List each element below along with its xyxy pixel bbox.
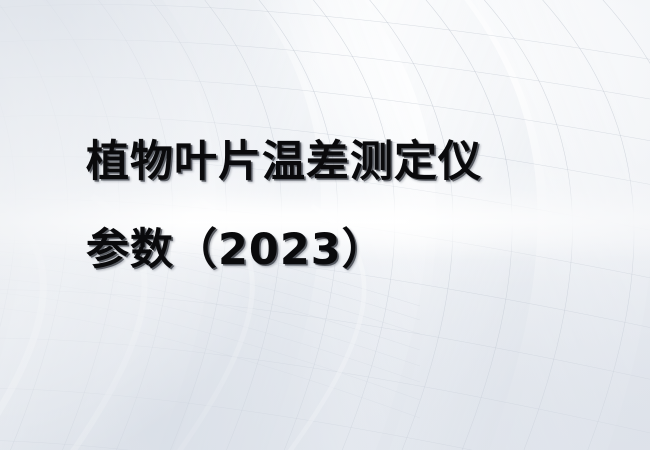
poster-canvas: 植物叶片温差测定仪 参数（2023） [0, 0, 650, 450]
title-line-primary: 植物叶片温差测定仪 [86, 118, 626, 206]
title-line-secondary: 参数（2023） [86, 206, 626, 294]
poster-title: 植物叶片温差测定仪 参数（2023） [86, 118, 626, 294]
